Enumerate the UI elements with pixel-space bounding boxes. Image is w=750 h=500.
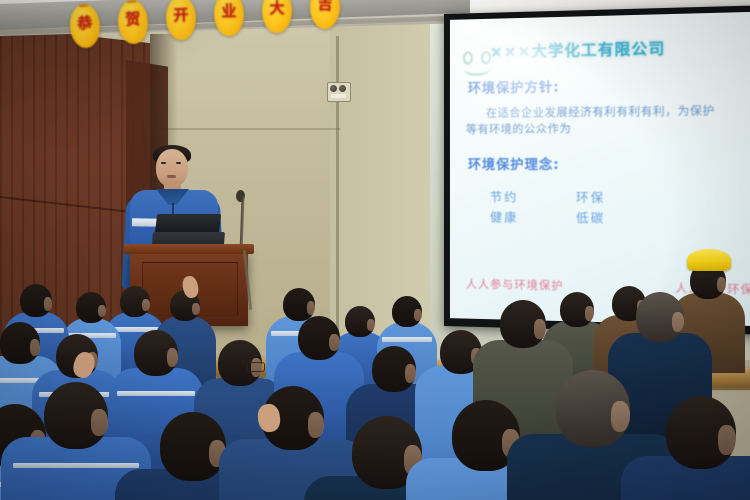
reflective-stripe (382, 337, 432, 342)
reflective-stripe (13, 463, 139, 468)
meeting-room-photo: 恭贺开业大吉 ×××大学化工有限公司 环境保护方针: 在适合企业发展经济有利有利… (0, 0, 750, 500)
audience-member-face (167, 348, 178, 366)
audience-member-face (405, 364, 416, 382)
slide-value-item: 低碳 (576, 211, 639, 226)
light-lamp-left (330, 85, 337, 92)
audience-member-face (611, 401, 630, 432)
slide-slogan-left: 人人参与环境保护 (466, 277, 564, 292)
emergency-exit-light (327, 82, 351, 102)
audience-member-face (585, 306, 594, 320)
audience-member-face (308, 412, 324, 438)
wall-seam (160, 128, 340, 130)
audience-member-face (307, 301, 315, 314)
lantern-character: 业 (214, 3, 244, 20)
lantern-character: 吉 (310, 0, 340, 12)
audience-member-face (718, 425, 736, 454)
presenter-mouth (167, 175, 176, 178)
slide-value-item: 健康 (490, 210, 551, 225)
audience-member-face (30, 339, 40, 356)
lantern-character: 贺 (117, 10, 148, 28)
audience-member-face (91, 409, 108, 436)
slide-value-item: 环保 (576, 190, 639, 205)
audience-member-face (44, 297, 52, 310)
slide-heading-concept: 环境保护理念: (468, 157, 750, 174)
pillar-edge (336, 36, 339, 336)
light-body (331, 94, 346, 98)
reflective-stripe (117, 391, 196, 396)
audience-member-face (534, 319, 546, 338)
wall-pillar (330, 18, 440, 362)
light-lamp-right (339, 85, 346, 92)
laptop-screen (155, 214, 221, 234)
lantern-character: 开 (166, 6, 197, 23)
lantern-character: 大 (262, 0, 292, 16)
slide-value-item: 节约 (490, 190, 551, 204)
presenter-eye-right (176, 162, 181, 164)
podium-top (124, 244, 254, 254)
lantern-character: 恭 (69, 14, 100, 32)
presenter-head (156, 149, 188, 187)
slide-values-grid: 节约 环保 健康 低碳 (490, 190, 750, 227)
yellow-hard-hat (687, 249, 731, 271)
presenter-eye-left (161, 162, 166, 164)
eyeglasses (247, 362, 265, 372)
